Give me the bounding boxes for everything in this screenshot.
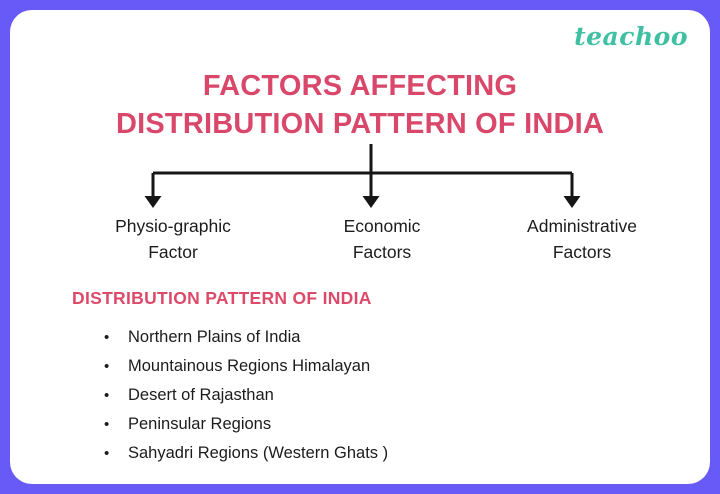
list-item: • Sahyadri Regions (Western Ghats )	[98, 439, 658, 468]
page-title-line-1: FACTORS AFFECTING	[10, 67, 710, 105]
teachoo-logo: teachoo	[574, 22, 688, 51]
arrow-head-right	[564, 196, 581, 208]
factor-administrative-line-2: Factors	[462, 239, 702, 265]
list-item: • Desert of Rajasthan	[98, 381, 658, 410]
list-item-label: Peninsular Regions	[128, 415, 271, 433]
list-item-label: Sahyadri Regions (Western Ghats )	[128, 444, 388, 462]
arrow-head-middle	[363, 196, 380, 208]
slide-canvas: teachoo FACTORS AFFECTING DISTRIBUTION P…	[10, 10, 710, 484]
bullet-icon: •	[104, 352, 109, 381]
list-item: • Peninsular Regions	[98, 410, 658, 439]
factor-administrative-line-1: Administrative	[462, 213, 702, 239]
bullet-icon: •	[104, 410, 109, 439]
list-item-label: Northern Plains of India	[128, 328, 300, 346]
arrow-head-left	[145, 196, 162, 208]
section-heading-distribution-pattern: DISTRIBUTION PATTERN OF INDIA	[72, 288, 372, 309]
region-list: • Northern Plains of India • Mountainous…	[98, 323, 658, 468]
bullet-icon: •	[104, 323, 109, 352]
branch-connector-diagram	[10, 138, 710, 216]
list-item: • Mountainous Regions Himalayan	[98, 352, 658, 381]
factor-physiographic-line-1: Physio-graphic	[53, 213, 293, 239]
connector-svg	[10, 138, 710, 216]
factor-administrative: Administrative Factors	[462, 213, 702, 265]
list-item-label: Mountainous Regions Himalayan	[128, 357, 370, 375]
factor-label-row: Physio-graphic Factor Economic Factors A…	[10, 213, 710, 271]
factor-physiographic: Physio-graphic Factor	[53, 213, 293, 265]
page-title: FACTORS AFFECTING DISTRIBUTION PATTERN O…	[10, 67, 710, 143]
list-item: • Northern Plains of India	[98, 323, 658, 352]
bullet-icon: •	[104, 439, 109, 468]
list-item-label: Desert of Rajasthan	[128, 386, 274, 404]
factor-physiographic-line-2: Factor	[53, 239, 293, 265]
slide-outer-frame: teachoo FACTORS AFFECTING DISTRIBUTION P…	[0, 0, 720, 494]
bullet-icon: •	[104, 381, 109, 410]
